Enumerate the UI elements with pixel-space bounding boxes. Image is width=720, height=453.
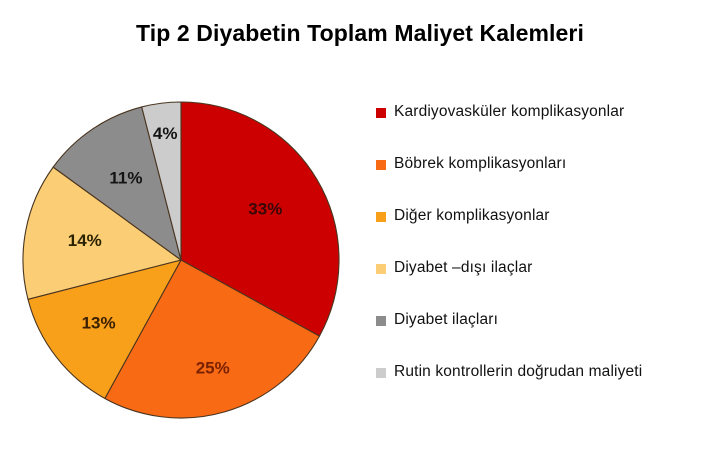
pie-chart-figure: Tip 2 Diyabetin Toplam Maliyet Kalemleri… — [0, 0, 720, 453]
legend-item[interactable]: Rutin kontrollerin doğrudan maliyeti — [376, 360, 712, 412]
legend-item-label: Böbrek komplikasyonları — [394, 152, 566, 174]
pie-plot-area: 33%25%13%14%11%4% — [22, 101, 340, 419]
legend-color-swatch-icon — [376, 160, 386, 170]
pie-slice-value-label: 33% — [248, 200, 282, 219]
pie-slice-value-label: 13% — [82, 313, 116, 332]
legend-item[interactable]: Kardiyovasküler komplikasyonlar — [376, 100, 712, 152]
legend-item[interactable]: Diyabet ilaçları — [376, 308, 712, 360]
pie-slice-group — [23, 102, 339, 418]
pie-svg: 33%25%13%14%11%4% — [22, 101, 340, 419]
legend-item-label: Kardiyovasküler komplikasyonlar — [394, 100, 624, 122]
legend-color-swatch-icon — [376, 368, 386, 378]
legend-item[interactable]: Diğer komplikasyonlar — [376, 204, 712, 256]
legend-item-label: Diğer komplikasyonlar — [394, 204, 550, 226]
legend-color-swatch-icon — [376, 316, 386, 326]
legend-item[interactable]: Böbrek komplikasyonları — [376, 152, 712, 204]
legend-item[interactable]: Diyabet –dışı ilaçlar — [376, 256, 712, 308]
legend-color-swatch-icon — [376, 108, 386, 118]
legend-item-label: Rutin kontrollerin doğrudan maliyeti — [394, 360, 642, 382]
chart-legend: Kardiyovasküler komplikasyonlarBöbrek ko… — [376, 100, 712, 412]
legend-item-label: Diyabet ilaçları — [394, 308, 498, 330]
legend-item-label: Diyabet –dışı ilaçlar — [394, 256, 532, 278]
chart-title: Tip 2 Diyabetin Toplam Maliyet Kalemleri — [0, 20, 720, 47]
pie-slice-value-label: 4% — [153, 124, 178, 143]
pie-slice-value-label: 25% — [196, 359, 230, 378]
pie-slice-value-label: 11% — [109, 168, 142, 187]
pie-slice-value-label: 14% — [68, 231, 102, 250]
legend-color-swatch-icon — [376, 212, 386, 222]
legend-color-swatch-icon — [376, 264, 386, 274]
